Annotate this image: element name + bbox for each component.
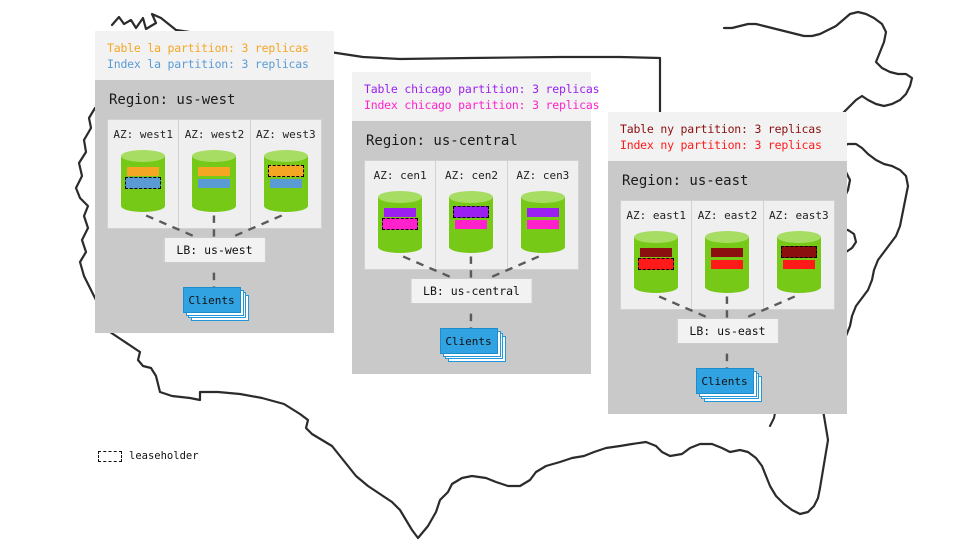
az-row: AZ: east1 AZ: east2 [620, 200, 835, 310]
replica-band-table [711, 248, 743, 257]
node-cylinder-west2[interactable] [192, 150, 236, 212]
az-label: AZ: cen1 [365, 169, 435, 182]
partition-summary-us-west: Table la partition: 3 replicas Index la … [95, 31, 334, 80]
replica-band-table [127, 167, 159, 176]
az-label: AZ: east3 [764, 209, 834, 222]
replica-band-table [527, 208, 559, 217]
replica-band-table-leaseholder [453, 206, 489, 218]
az-label: AZ: cen3 [508, 169, 578, 182]
az-label: AZ: cen2 [436, 169, 506, 182]
replica-band-table-leaseholder [781, 246, 817, 258]
diagram-canvas: Table la partition: 3 replicas Index la … [0, 0, 960, 540]
az-cell-cen1[interactable]: AZ: cen1 [365, 161, 436, 269]
cylinder-top [264, 150, 308, 162]
partition-line-table: Table chicago partition: 3 replicas [364, 81, 579, 97]
az-cell-east1[interactable]: AZ: east1 [621, 201, 692, 309]
replica-band-table-leaseholder [268, 165, 304, 177]
cylinder-top [777, 231, 821, 243]
partition-line-table: Table la partition: 3 replicas [107, 40, 322, 56]
replica-band-index [527, 220, 559, 229]
region-title: Region: us-central [364, 121, 579, 160]
clients-label[interactable]: Clients [696, 368, 754, 394]
cylinder-top [521, 191, 565, 203]
partition-line-table: Table ny partition: 3 replicas [620, 121, 835, 137]
replica-band-index [783, 260, 815, 269]
replica-band-index [270, 179, 302, 188]
region-title: Region: us-east [620, 161, 835, 200]
cylinder-top [634, 231, 678, 243]
node-cylinder-cen2[interactable] [449, 191, 493, 253]
az-row: AZ: cen1 AZ: cen2 [364, 160, 579, 270]
az-label: AZ: east1 [621, 209, 691, 222]
replica-band-index [455, 220, 487, 229]
clients-us-west[interactable]: Clients [183, 287, 247, 319]
az-cell-cen3[interactable]: AZ: cen3 [508, 161, 578, 269]
partition-summary-us-central: Table chicago partition: 3 replicas Inde… [352, 72, 591, 121]
az-label: AZ: west1 [108, 128, 178, 141]
az-cell-east3[interactable]: AZ: east3 [764, 201, 834, 309]
node-cylinder-west1[interactable] [121, 150, 165, 212]
replica-band-index-leaseholder [382, 218, 418, 230]
node-cylinder-east3[interactable] [777, 231, 821, 293]
clients-us-east[interactable]: Clients [696, 368, 760, 400]
cylinder-top [378, 191, 422, 203]
az-cell-west3[interactable]: AZ: west3 [251, 120, 321, 228]
legend-leaseholder: leaseholder [98, 450, 199, 462]
az-label: AZ: west2 [179, 128, 249, 141]
load-balancer-us-central[interactable]: LB: us-central [410, 278, 533, 304]
az-cell-west1[interactable]: AZ: west1 [108, 120, 179, 228]
az-label: AZ: east2 [692, 209, 762, 222]
clients-label[interactable]: Clients [183, 287, 241, 313]
partition-summary-us-east: Table ny partition: 3 replicas Index ny … [608, 112, 847, 161]
region-panel-us-east: Table ny partition: 3 replicas Index ny … [608, 112, 847, 414]
node-cylinder-west3[interactable] [264, 150, 308, 212]
load-balancer-us-east[interactable]: LB: us-east [676, 318, 778, 344]
replica-band-index-leaseholder [638, 258, 674, 270]
replica-band-table [640, 248, 672, 257]
clients-us-central[interactable]: Clients [440, 328, 504, 360]
partition-line-index: Index chicago partition: 3 replicas [364, 97, 579, 113]
az-cell-west2[interactable]: AZ: west2 [179, 120, 250, 228]
replica-band-index [711, 260, 743, 269]
dashed-rect-icon [98, 451, 122, 462]
legend-label: leaseholder [129, 450, 199, 462]
replica-band-index-leaseholder [125, 177, 161, 189]
az-cell-east2[interactable]: AZ: east2 [692, 201, 763, 309]
replica-band-table [198, 167, 230, 176]
node-cylinder-cen1[interactable] [378, 191, 422, 253]
az-cell-cen2[interactable]: AZ: cen2 [436, 161, 507, 269]
partition-line-index: Index ny partition: 3 replicas [620, 137, 835, 153]
node-cylinder-east1[interactable] [634, 231, 678, 293]
az-label: AZ: west3 [251, 128, 321, 141]
region-panel-us-central: Table chicago partition: 3 replicas Inde… [352, 72, 591, 374]
region-panel-us-west: Table la partition: 3 replicas Index la … [95, 31, 334, 333]
node-cylinder-east2[interactable] [705, 231, 749, 293]
az-row: AZ: west1 AZ: west2 [107, 119, 322, 229]
load-balancer-us-west[interactable]: LB: us-west [163, 237, 265, 263]
cylinder-top [121, 150, 165, 162]
partition-line-index: Index la partition: 3 replicas [107, 56, 322, 72]
replica-band-index [198, 179, 230, 188]
node-cylinder-cen3[interactable] [521, 191, 565, 253]
replica-band-table [384, 208, 416, 217]
clients-label[interactable]: Clients [440, 328, 498, 354]
region-title: Region: us-west [107, 80, 322, 119]
